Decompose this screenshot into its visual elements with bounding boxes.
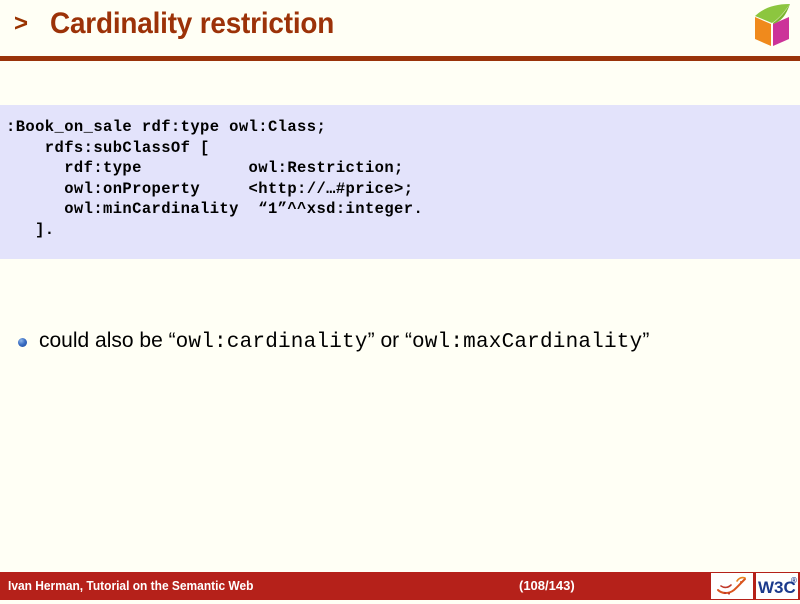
- list-item: could also be “owl:cardinality” or “owl:…: [0, 326, 800, 358]
- bullet-list: could also be “owl:cardinality” or “owl:…: [0, 326, 800, 358]
- bullet-text-suffix: ”: [642, 329, 649, 352]
- slide-header: > Cardinality restriction: [0, 0, 800, 57]
- slide-footer: Ivan Herman, Tutorial on the Semantic We…: [0, 572, 800, 600]
- page-title: Cardinality restriction: [50, 6, 334, 42]
- w3c-cube-logo: [750, 2, 794, 48]
- arabic-calligraphy-logo: [711, 573, 753, 599]
- bullet-text-middle: ” or “: [368, 329, 412, 352]
- svg-text:®: ®: [791, 576, 797, 585]
- bullet-code-cardinality: owl:cardinality: [176, 331, 368, 354]
- footer-author: Ivan Herman, Tutorial on the Semantic We…: [8, 577, 253, 595]
- w3c-logo: W3C ®: [756, 573, 798, 599]
- header-divider: [0, 56, 800, 61]
- bullet-code-maxcardinality: owl:maxCardinality: [412, 331, 642, 354]
- code-snippet: :Book_on_sale rdf:type owl:Class; rdfs:s…: [0, 105, 800, 240]
- title-marker: >: [14, 12, 28, 36]
- bullet-dot-icon: [18, 338, 27, 347]
- footer-logos: W3C ®: [711, 573, 798, 599]
- code-block: :Book_on_sale rdf:type owl:Class; rdfs:s…: [0, 105, 800, 259]
- footer-page-number: (108/143): [519, 577, 575, 595]
- bullet-text: could also be “owl:cardinality” or “owl:…: [39, 326, 649, 358]
- bullet-text-prefix: could also be “: [39, 329, 176, 352]
